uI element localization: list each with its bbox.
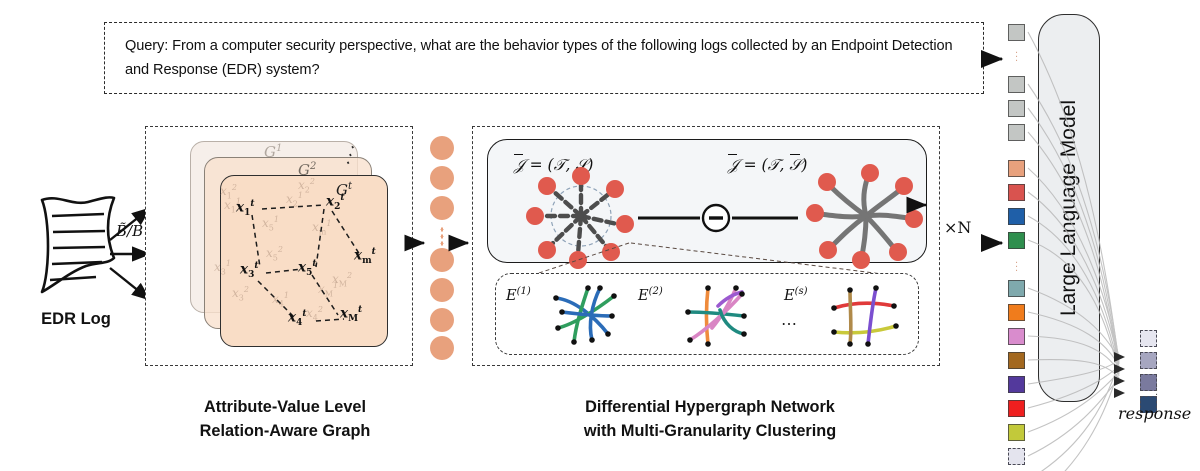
cluster-2-label: E(2) — [638, 286, 663, 304]
document-scroll-icon — [28, 192, 120, 304]
cluster-2-diagram — [682, 282, 758, 348]
input-token[interactable] — [1008, 208, 1025, 225]
output-token[interactable] — [1140, 330, 1157, 347]
hypergraph-output-arrow — [908, 196, 936, 214]
edge-label-B: B̃/B — [116, 222, 143, 240]
repeat-count-label: ×N — [944, 218, 971, 237]
cluster-s-label: E(s) — [784, 286, 808, 304]
hypergraph-label-refined: 𝒥 = (𝒯, 𝒮) — [728, 156, 807, 175]
cluster-s-diagram — [828, 282, 904, 348]
cluster-ellipsis: ⋯ — [781, 314, 799, 334]
left-module-caption: Attribute-Value Level Relation-Aware Gra… — [140, 396, 430, 443]
input-token[interactable] — [1008, 76, 1025, 93]
figure-root: Query: From a computer security perspect… — [0, 0, 1200, 471]
right-module-caption: Differential Hypergraph Network with Mul… — [500, 396, 920, 443]
input-token[interactable] — [1008, 448, 1025, 465]
right-caption-line2: with Multi-Granularity Clustering — [500, 420, 920, 444]
attribute-value-graph-panel: G1 G2 Gt ⋰ x11 x22 x21 x12 x51 xm1 x52 x… — [145, 126, 413, 366]
embedding-ellipsis — [440, 226, 444, 246]
output-token-ellipsis: ... — [1148, 382, 1165, 394]
llm-output-token-column — [1140, 330, 1160, 410]
llm-connection-fan — [1026, 18, 1146, 418]
graph-node-labels: x1t x2t x3t x5t xmt x4t xMt — [220, 175, 388, 347]
input-token[interactable] — [1008, 124, 1025, 141]
graph-layer-1-label: G1 — [264, 143, 282, 161]
query-box: Query: From a computer security perspect… — [104, 22, 984, 94]
cluster-1-label: E(1) — [506, 286, 531, 304]
cluster-1-diagram — [548, 282, 624, 348]
input-token[interactable] — [1008, 424, 1025, 441]
input-token[interactable] — [1008, 24, 1025, 41]
hypergraph-network-panel: 𝒥 = (𝒯, 𝒮) 𝒥 = (𝒯, 𝒮) — [472, 126, 940, 366]
input-token[interactable] — [1008, 160, 1025, 177]
left-caption-line1: Attribute-Value Level — [140, 396, 430, 420]
input-token[interactable] — [1008, 328, 1025, 345]
input-token[interactable] — [1008, 400, 1025, 417]
right-caption-line1: Differential Hypergraph Network — [500, 396, 920, 420]
left-caption-line2: Relation-Aware Graph — [140, 420, 430, 444]
input-token-ellipsis: ... — [1008, 48, 1025, 60]
output-token[interactable] — [1140, 352, 1157, 369]
input-token[interactable] — [1008, 352, 1025, 369]
minus-circle-icon — [638, 202, 808, 234]
input-token[interactable] — [1008, 100, 1025, 117]
input-token[interactable] — [1008, 304, 1025, 321]
input-token[interactable] — [1008, 232, 1025, 249]
input-token[interactable] — [1008, 184, 1025, 201]
input-token[interactable] — [1008, 280, 1025, 297]
multi-granularity-cluster-box: E(1) E(2) — [495, 273, 919, 355]
input-token-ellipsis: ... — [1008, 258, 1025, 270]
input-token[interactable] — [1008, 376, 1025, 393]
response-label: response — [1118, 404, 1191, 423]
query-text: Query: From a computer security perspect… — [125, 35, 969, 82]
llm-input-token-column: ... ... — [1008, 18, 1028, 398]
